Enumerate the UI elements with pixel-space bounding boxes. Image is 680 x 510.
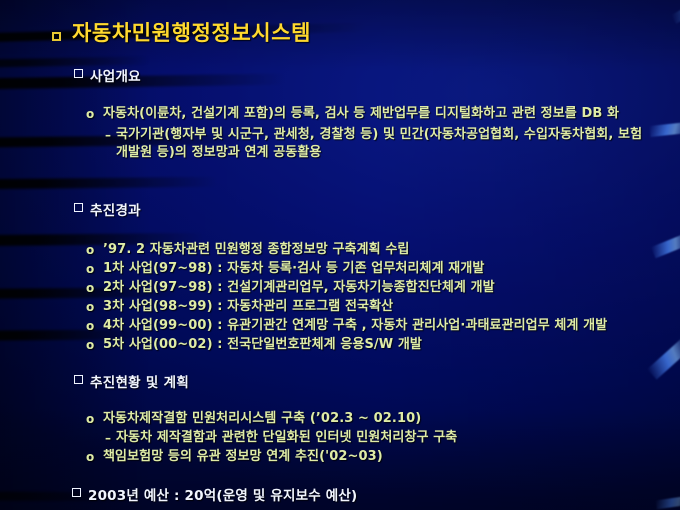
section-heading-text: 추진경과 xyxy=(90,199,141,219)
list-item: o 5차 사업(00~02) : 전국단일번호판체계 응용S/W 개발 xyxy=(86,336,661,354)
list-item: – 국가기관(행자부 및 시군구, 관세청, 경찰청 등) 및 민간(자동차공업… xyxy=(86,126,651,163)
list-item: o 자동차제작결함 민원처리시스템 구축 (’02.3 ~ 02.10) xyxy=(86,410,661,428)
list-item: o 3차 사업(98~99) : 자동차관리 프로그램 전국확산 xyxy=(86,298,661,316)
section-3-items: o 자동차제작결함 민원처리시스템 구축 (’02.3 ~ 02.10) – 자… xyxy=(86,410,661,467)
list-item-text: 2차 사업(97~98) : 건설기계관리업무, 자동차기능종합진단체계 개발 xyxy=(103,279,661,297)
list-item-text: 자동차제작결함 민원처리시스템 구축 (’02.3 ~ 02.10) xyxy=(103,410,661,428)
hollow-square-bullet-icon xyxy=(74,69,83,78)
section-1-items: o 자동차(이륜차, 건설기계 포함)의 등록, 검사 등 제반업무를 디지털화… xyxy=(86,105,651,164)
list-item: o 4차 사업(99~00) : 유관기관간 연계망 구축 , 자동차 관리사업… xyxy=(86,317,661,335)
section-2-items: o ’97. 2 자동차관련 민원행정 종합정보망 구축계획 수립 o 1차 사… xyxy=(86,241,661,355)
section-heading-text: 추진현황 및 계획 xyxy=(90,371,189,391)
circle-bullet-icon: o xyxy=(86,317,103,335)
hollow-square-bullet-icon xyxy=(74,203,83,212)
list-item-text: ’97. 2 자동차관련 민원행정 종합정보망 구축계획 수립 xyxy=(103,241,661,259)
circle-bullet-icon: o xyxy=(86,260,103,278)
list-item-text: 5차 사업(00~02) : 전국단일번호판체계 응용S/W 개발 xyxy=(103,336,661,354)
list-item: o ’97. 2 자동차관련 민원행정 종합정보망 구축계획 수립 xyxy=(86,241,661,259)
section-heading-2: 추진경과 xyxy=(74,199,141,219)
presentation-slide: 자동차민원행정정보시스템 사업개요 o 자동차(이륜차, 건설기계 포함)의 등… xyxy=(0,0,680,510)
list-item-text: 1차 사업(97~98) : 자동차 등록·검사 등 기존 업무처리체계 재개발 xyxy=(103,260,661,278)
list-item: o 자동차(이륜차, 건설기계 포함)의 등록, 검사 등 제반업무를 디지털화… xyxy=(86,105,651,124)
hollow-square-bullet-icon xyxy=(52,32,61,41)
list-item-text: 자동차(이륜차, 건설기계 포함)의 등록, 검사 등 제반업무를 디지털화하고… xyxy=(103,105,651,124)
hollow-square-bullet-icon xyxy=(74,375,83,384)
list-item: o 1차 사업(97~98) : 자동차 등록·검사 등 기존 업무처리체계 재… xyxy=(86,260,661,278)
circle-bullet-icon: o xyxy=(86,298,103,316)
slide-title-text: 자동차민원행정정보시스템 xyxy=(72,17,311,47)
dash-bullet-icon: – xyxy=(95,126,116,145)
list-item-text: 책임보험망 등의 유관 정보망 연계 추진('02~03) xyxy=(103,448,661,466)
slide-content: 자동차민원행정정보시스템 사업개요 o 자동차(이륜차, 건설기계 포함)의 등… xyxy=(0,0,680,510)
circle-bullet-icon: o xyxy=(86,105,103,124)
circle-bullet-icon: o xyxy=(86,410,103,428)
list-item: o 책임보험망 등의 유관 정보망 연계 추진('02~03) xyxy=(86,448,661,466)
section-heading-3: 추진현황 및 계획 xyxy=(74,371,189,391)
circle-bullet-icon: o xyxy=(86,241,103,259)
budget-line-text: 2003년 예산 : 20억(운영 및 유지보수 예산) xyxy=(88,484,357,504)
circle-bullet-icon: o xyxy=(86,336,103,354)
section-heading-text: 사업개요 xyxy=(90,65,141,85)
section-heading-1: 사업개요 xyxy=(74,65,141,85)
dash-bullet-icon: – xyxy=(95,429,116,447)
list-item: – 자동차 제작결함과 관련한 단일화된 인터넷 민원처리창구 구축 xyxy=(86,429,661,447)
circle-bullet-icon: o xyxy=(86,448,103,466)
hollow-square-bullet-icon xyxy=(72,488,81,497)
circle-bullet-icon: o xyxy=(86,279,103,297)
list-item-text: 4차 사업(99~00) : 유관기관간 연계망 구축 , 자동차 관리사업·과… xyxy=(103,317,661,335)
budget-line: 2003년 예산 : 20억(운영 및 유지보수 예산) xyxy=(72,484,357,504)
list-item-text: 자동차 제작결함과 관련한 단일화된 인터넷 민원처리창구 구축 xyxy=(116,429,661,447)
list-item-text: 3차 사업(98~99) : 자동차관리 프로그램 전국확산 xyxy=(103,298,661,316)
list-item-text: 국가기관(행자부 및 시군구, 관세청, 경찰청 등) 및 민간(자동차공업협회… xyxy=(116,126,651,163)
list-item: o 2차 사업(97~98) : 건설기계관리업무, 자동차기능종합진단체계 개… xyxy=(86,279,661,297)
slide-title: 자동차민원행정정보시스템 xyxy=(52,17,311,47)
